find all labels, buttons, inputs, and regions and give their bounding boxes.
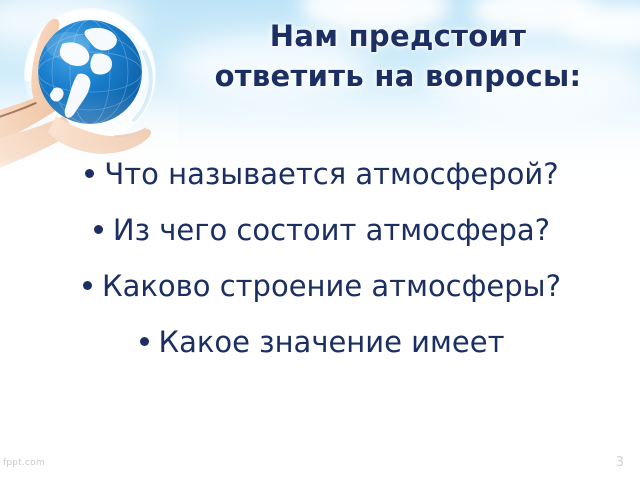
list-item-label: Что называется атмосферой? — [104, 157, 558, 191]
list-item-label: Каково строение атмосферы? — [102, 269, 561, 303]
list-item: Каково строение атмосферы? — [52, 264, 592, 308]
slide-title: Нам предстоит ответить на вопросы: — [160, 16, 636, 96]
list-item-label: Какое значение имеет — [159, 325, 505, 359]
bullet-dot-icon — [140, 337, 149, 346]
cloud-shape — [0, 0, 140, 50]
list-item-label: Из чего состоит атмосфера? — [113, 213, 550, 247]
watermark: fppt.com — [3, 458, 45, 468]
bullet-dot-icon — [94, 225, 103, 234]
list-item: Что называется атмосферой? — [52, 152, 592, 196]
list-item: Какое значение имеет — [52, 320, 592, 364]
page-number: 3 — [616, 455, 624, 470]
bullet-dot-icon — [85, 169, 94, 178]
slide-canvas: Нам предстоит ответить на вопросы: Что н… — [0, 0, 640, 480]
list-item: Из чего состоит атмосфера? — [52, 208, 592, 252]
bullet-dot-icon — [83, 281, 92, 290]
question-list: Что называется атмосферой? Из чего состо… — [52, 152, 592, 376]
